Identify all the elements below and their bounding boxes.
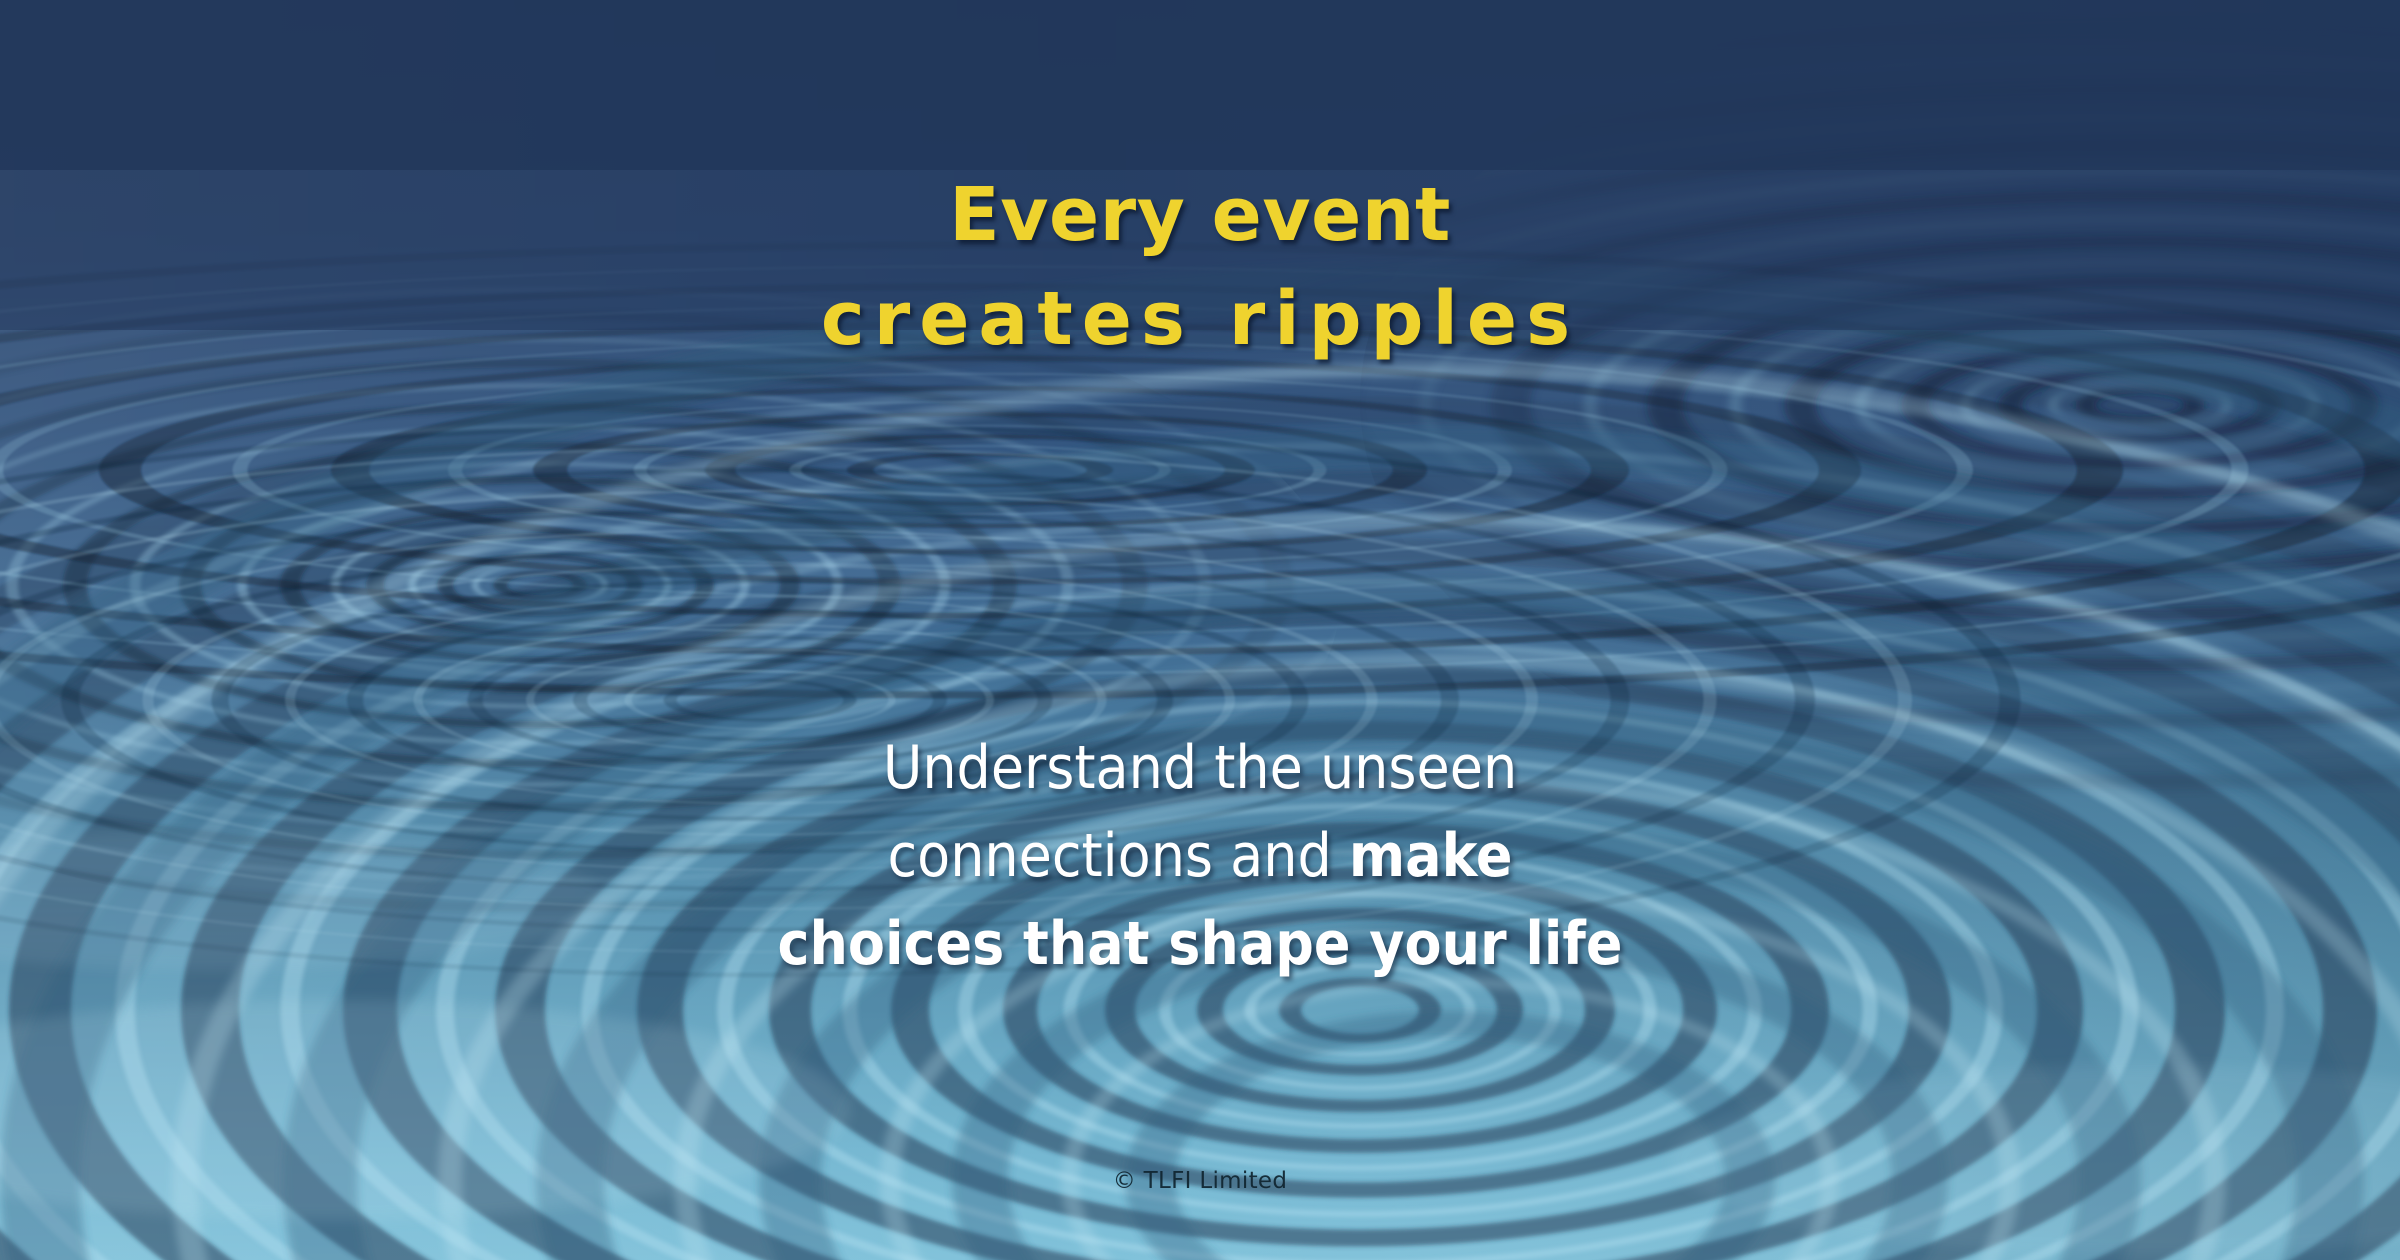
subtitle-line-2: connections and make	[0, 826, 2400, 886]
subtitle-line-1: Understand the unseen	[0, 738, 2400, 798]
headline-line-1: Every event	[0, 178, 2400, 252]
copyright-notice: © TLFI Limited	[0, 1168, 2400, 1194]
subtitle-line-2-normal: connections and	[888, 821, 1349, 891]
subtitle-line-3: choices that shape your life	[0, 914, 2400, 974]
text-layer: Every event creates ripples Understand t…	[0, 0, 2400, 1260]
ripple-slide: Every event creates ripples Understand t…	[0, 0, 2400, 1260]
headline-line-2: creates ripples	[0, 282, 2400, 356]
subtitle-line-2-emphasis: make	[1349, 821, 1513, 891]
